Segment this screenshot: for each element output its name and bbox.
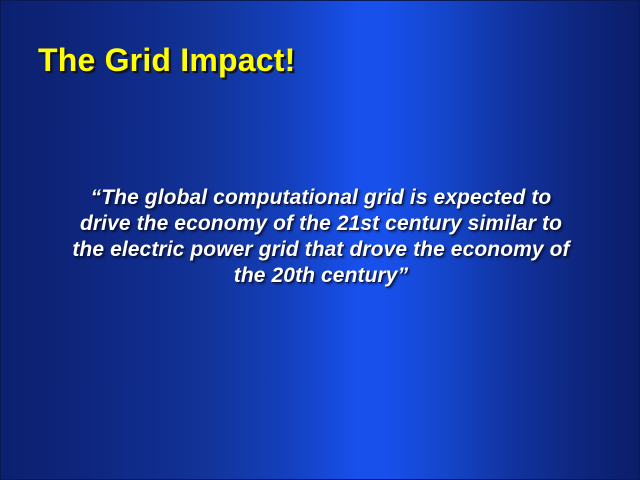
quote-line-2: drive the economy of the 21st century si… [31,211,611,237]
page-title: The Grid Impact! [38,41,598,79]
presentation-slide: The Grid Impact! “The global computation… [0,0,640,480]
quote-line-1: “The global computational grid is expect… [31,185,611,211]
quote-line-3: the electric power grid that drove the e… [31,237,611,263]
quote-line-4: the 20th century” [31,263,611,289]
quote-text-block: “The global computational grid is expect… [31,185,611,289]
